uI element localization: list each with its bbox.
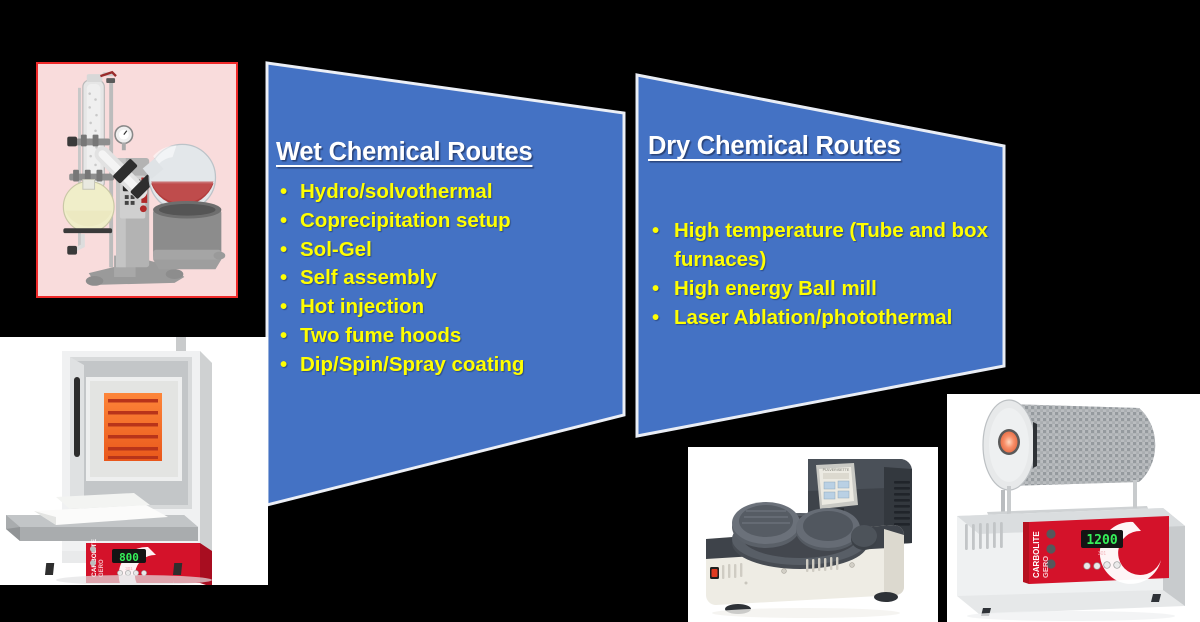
list-item: • Dip/Spin/Spray coating bbox=[280, 351, 580, 380]
rotary-evaporator-illustration bbox=[38, 64, 235, 295]
svg-text:301: 301 bbox=[1098, 551, 1107, 557]
svg-text:GERO: GERO bbox=[99, 559, 105, 577]
dry-panel-title: Dry Chemical Routes bbox=[648, 132, 901, 161]
bullet-glyph: • bbox=[280, 264, 287, 293]
ball-mill-illustration: PULVERISETTE bbox=[688, 447, 938, 622]
tube-furnace-illustration: 1200 301 CARBOLITE GERO bbox=[947, 394, 1200, 622]
list-item-label: High temperature (Tube and box furnaces) bbox=[674, 216, 992, 274]
bullet-glyph: • bbox=[280, 207, 287, 236]
bullet-glyph: • bbox=[280, 351, 287, 380]
box-furnace-illustration: 800 301 CARBOLITE GERO bbox=[0, 337, 268, 585]
ball-mill-photo: PULVERISETTE bbox=[688, 447, 938, 622]
box-furnace-photo: 800 301 CARBOLITE GERO bbox=[0, 337, 268, 585]
dry-chemical-routes-panel[interactable]: Dry Chemical Routes • High temperature (… bbox=[628, 64, 1010, 450]
list-item-label: Dip/Spin/Spray coating bbox=[300, 351, 580, 380]
list-item: • High temperature (Tube and box furnace… bbox=[652, 216, 992, 274]
list-item: • Sol-Gel bbox=[280, 236, 580, 265]
svg-text:PULVERISETTE: PULVERISETTE bbox=[823, 468, 850, 472]
list-item: • High energy Ball mill bbox=[652, 274, 992, 303]
bullet-glyph: • bbox=[280, 322, 287, 351]
bullet-glyph: • bbox=[652, 303, 659, 332]
list-item-label: Coprecipitation setup bbox=[300, 207, 580, 236]
bullet-glyph: • bbox=[280, 293, 287, 322]
bullet-glyph: • bbox=[280, 178, 287, 207]
box-furnace-brand: CARBOLITE bbox=[91, 538, 98, 577]
rotary-evaporator-photo bbox=[28, 56, 246, 304]
svg-text:301: 301 bbox=[125, 566, 133, 571]
list-item: • Hydro/solvothermal bbox=[280, 178, 580, 207]
rotary-evaporator-image bbox=[36, 62, 238, 298]
list-item-label: Hot injection bbox=[300, 293, 580, 322]
list-item: • Laser Ablation/photothermal bbox=[652, 303, 992, 332]
list-item-label: Sol-Gel bbox=[300, 236, 580, 265]
wet-chemical-routes-panel[interactable]: Wet Chemical Routes • Hydro/solvothermal… bbox=[258, 52, 630, 520]
list-item-label: Two fume hoods bbox=[300, 322, 580, 351]
list-item-label: Hydro/solvothermal bbox=[300, 178, 580, 207]
svg-text:GERO: GERO bbox=[1041, 556, 1050, 578]
list-item: • Coprecipitation setup bbox=[280, 207, 580, 236]
bullet-glyph: • bbox=[652, 274, 659, 303]
dry-panel-bullet-list: • High temperature (Tube and box furnace… bbox=[652, 216, 992, 332]
bullet-glyph: • bbox=[652, 216, 659, 245]
list-item-label: High energy Ball mill bbox=[674, 274, 992, 303]
slide-canvas: Wet Chemical Routes • Hydro/solvothermal… bbox=[0, 0, 1200, 622]
list-item: • Hot injection bbox=[280, 293, 580, 322]
list-item-label: Laser Ablation/photothermal bbox=[674, 303, 992, 332]
box-furnace-display-value: 800 bbox=[119, 551, 139, 564]
tube-furnace-brand: CARBOLITE bbox=[1032, 531, 1041, 578]
wet-panel-bullet-list: • Hydro/solvothermal • Coprecipitation s… bbox=[280, 178, 580, 380]
wet-panel-title: Wet Chemical Routes bbox=[276, 138, 532, 167]
list-item: • Two fume hoods bbox=[280, 322, 580, 351]
tube-furnace-display-value: 1200 bbox=[1086, 533, 1117, 548]
list-item-label: Self assembly bbox=[300, 264, 580, 293]
bullet-glyph: • bbox=[280, 236, 287, 265]
list-item: • Self assembly bbox=[280, 264, 580, 293]
tube-furnace-photo: 1200 301 CARBOLITE GERO bbox=[947, 394, 1200, 622]
